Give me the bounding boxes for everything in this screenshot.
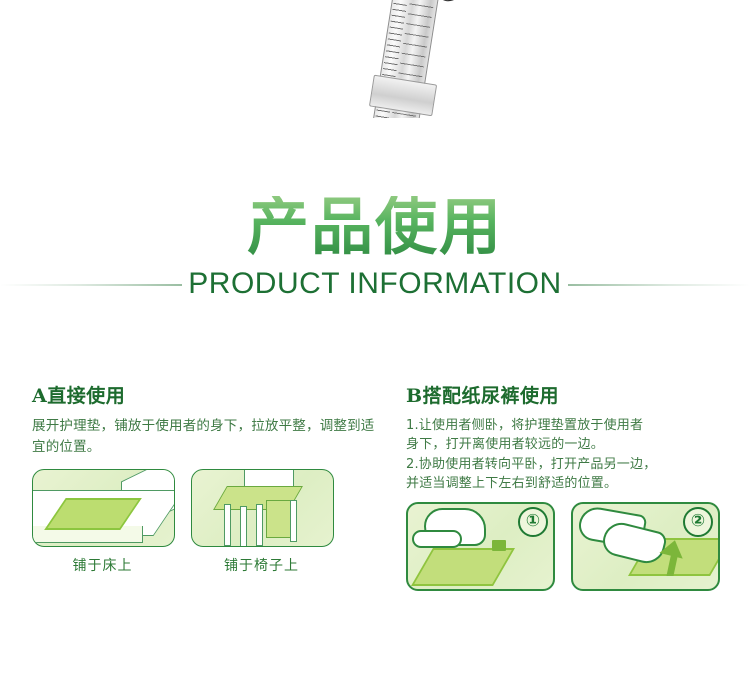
- figure-chair-caption: 铺于椅子上: [191, 555, 332, 575]
- vernier-caliper-icon: MITUTOYO: [353, 0, 491, 118]
- section-heading-block: 产品使用 PRODUCT INFORMATION: [0, 196, 750, 306]
- figure-bed: 铺于床上: [32, 469, 173, 575]
- section-b-figures: ① ②: [406, 502, 736, 591]
- section-b-line-4: 并适当调整上下左右到舒适的位置。: [406, 474, 736, 494]
- figure-chair-frame: [191, 469, 334, 547]
- figure-bed-caption: 铺于床上: [32, 555, 173, 575]
- step-badge-two: ②: [683, 507, 713, 537]
- figure-step-two: ②: [571, 502, 716, 591]
- figure-bed-frame: [32, 469, 175, 547]
- section-b-heading: B搭配纸尿裤使用: [406, 386, 736, 407]
- figure-chair: 铺于椅子上: [191, 469, 332, 575]
- figure-step-one-frame: ①: [406, 502, 555, 591]
- figure-step-two-frame: ②: [571, 502, 720, 591]
- figure-step-one: ①: [406, 502, 551, 591]
- section-b-line-1: 1.让使用者侧卧，将护理垫置放于使用者: [406, 416, 736, 436]
- section-b-line-3: 2.协助使用者转向平卧，打开产品另一边，: [406, 455, 736, 475]
- chair-leg: [290, 500, 297, 542]
- pad-fold-tab: [492, 540, 506, 551]
- chair-leg: [224, 504, 231, 546]
- section-b-line-2: 身下，打开离使用者较远的一边。: [406, 435, 736, 455]
- section-a-body: 展开护理垫，铺放于使用者的身下，拉放平整，调整到适宜的位置。: [32, 416, 377, 458]
- chair-leg: [256, 504, 263, 546]
- product-photo-band: MITUTOYO: [0, 0, 750, 118]
- section-a-figures: 铺于床上 铺于椅子上: [32, 469, 377, 575]
- patient-arm-illustration: [412, 530, 462, 548]
- page-title-en: PRODUCT INFORMATION: [182, 267, 567, 301]
- chair-leg: [240, 506, 247, 547]
- page-subtitle-row: PRODUCT INFORMATION: [0, 264, 750, 304]
- instructions-columns: A直接使用 展开护理垫，铺放于使用者的身下，拉放平整，调整到适宜的位置。 铺于床…: [0, 386, 750, 626]
- care-pad-sheet: [411, 548, 515, 586]
- page-title-cn: 产品使用: [0, 196, 750, 262]
- section-b: B搭配纸尿裤使用 1.让使用者侧卧，将护理垫置放于使用者 身下，打开离使用者较远…: [406, 386, 736, 591]
- section-a: A直接使用 展开护理垫，铺放于使用者的身下，拉放平整，调整到适宜的位置。 铺于床…: [32, 386, 377, 575]
- section-a-heading: A直接使用: [32, 386, 377, 407]
- step-badge-one: ①: [518, 507, 548, 537]
